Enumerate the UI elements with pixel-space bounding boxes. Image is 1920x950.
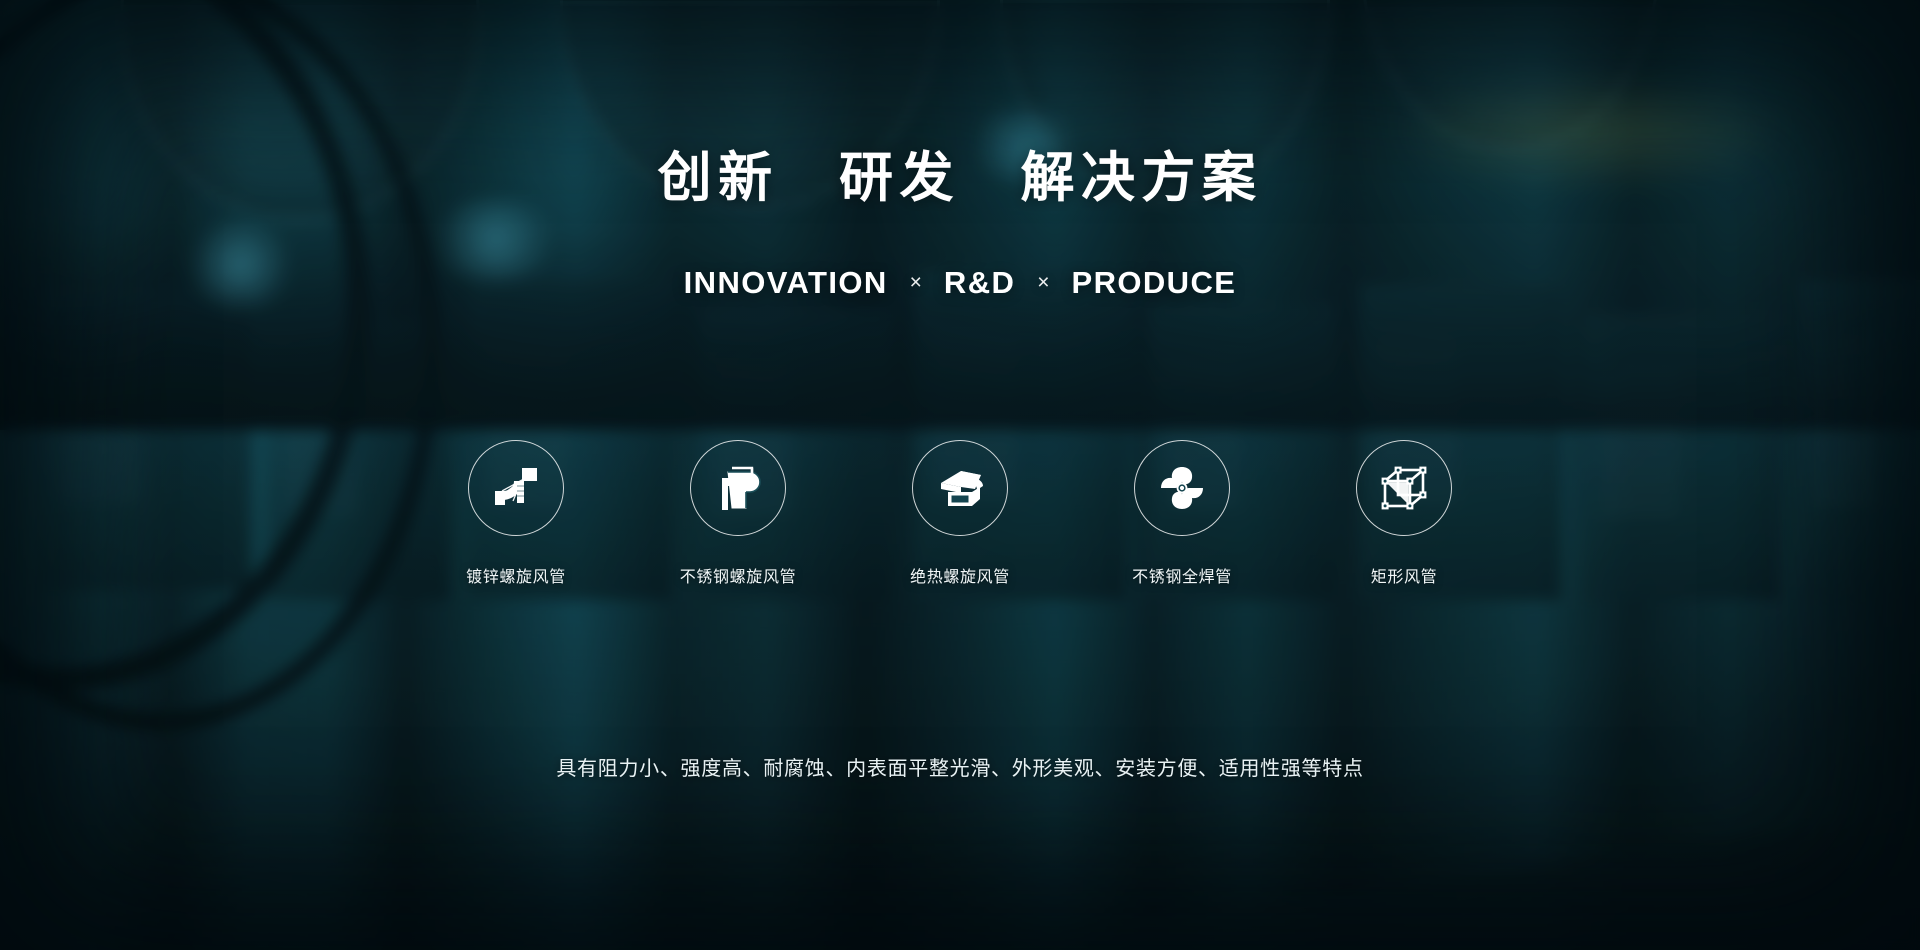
subtitle-separator-icon: ×	[910, 271, 922, 295]
product-label: 矩形风管	[1371, 563, 1438, 587]
hero-tagline: 具有阻力小、强度高、耐腐蚀、内表面平整光滑、外形美观、安装方便、适用性强等特点	[0, 752, 1920, 781]
product-icon-circle[interactable]	[690, 440, 786, 536]
subtitle-word-rd: R&D	[944, 265, 1015, 301]
insulated-spiral-duct-icon	[931, 459, 989, 517]
product-icon-circle[interactable]	[1134, 440, 1230, 536]
product-card-rectangular-duct[interactable]: 矩形风管	[1334, 440, 1474, 587]
product-category-list: 镀锌螺旋风管 不锈钢螺旋风管	[0, 440, 1920, 587]
product-card-stainless-welded-pipe[interactable]: 不锈钢全焊管	[1112, 440, 1252, 587]
product-card-stainless-spiral-duct[interactable]: 不锈钢螺旋风管	[668, 440, 808, 587]
product-label: 镀锌螺旋风管	[466, 563, 566, 587]
product-icon-circle[interactable]	[912, 440, 1008, 536]
product-card-insulated-spiral-duct[interactable]: 绝热螺旋风管	[890, 440, 1030, 587]
hero-banner: 创新 研发 解决方案 INNOVATION × R&D × PRODUCE	[0, 0, 1920, 950]
rectangular-duct-icon	[1376, 460, 1432, 516]
product-icon-circle[interactable]	[1356, 440, 1452, 536]
stainless-spiral-duct-icon	[710, 460, 766, 516]
product-label: 不锈钢螺旋风管	[680, 563, 796, 587]
hero-headline: 创新 研发 解决方案	[0, 133, 1920, 212]
subtitle-separator-icon: ×	[1037, 271, 1049, 295]
product-icon-circle[interactable]	[468, 440, 564, 536]
product-label: 绝热螺旋风管	[910, 563, 1010, 587]
hero-subtitle: INNOVATION × R&D × PRODUCE	[0, 265, 1920, 301]
product-label: 不锈钢全焊管	[1132, 563, 1232, 587]
subtitle-word-produce: PRODUCE	[1072, 265, 1237, 301]
spiral-duct-elbow-icon	[488, 460, 544, 516]
product-card-galvanized-spiral-duct[interactable]: 镀锌螺旋风管	[446, 440, 586, 587]
subtitle-word-innovation: INNOVATION	[684, 265, 888, 301]
fan-blade-icon	[1155, 461, 1209, 515]
